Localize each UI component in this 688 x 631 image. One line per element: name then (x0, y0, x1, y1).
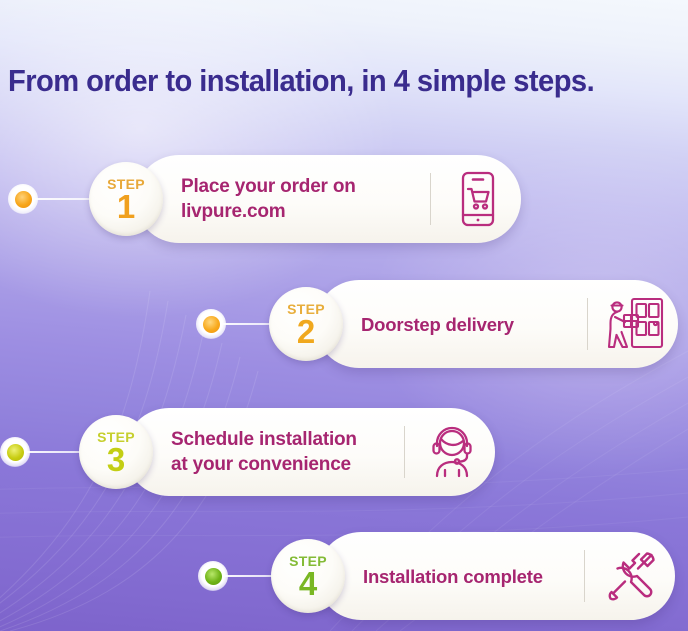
timeline-dot-fill (203, 316, 220, 333)
step-number-4: 4 (299, 567, 317, 600)
step-card-4: Installation complete (317, 532, 675, 620)
timeline-dot-fill (15, 191, 32, 208)
timeline-connector-3 (27, 451, 85, 453)
delivery-door-icon (592, 297, 678, 351)
step-row-4: STEP 4 Installation complete (198, 520, 675, 631)
step-row-2: STEP 2 Doorstep delivery (196, 268, 678, 380)
step-text-2: Doorstep delivery (315, 312, 587, 337)
step-card-2: Doorstep delivery (315, 280, 678, 368)
phone-cart-icon (435, 171, 521, 227)
wrench-screwdriver-icon (589, 551, 675, 601)
step-badge-3: STEP 3 (79, 415, 153, 489)
infographic-poster: From order to installation, in 4 simple … (0, 0, 688, 631)
timeline-dot-4 (198, 561, 228, 591)
timeline-dot-1 (8, 184, 38, 214)
timeline-connector-2 (223, 323, 275, 325)
step-number-1: 1 (117, 190, 135, 223)
step-badge-2: STEP 2 (269, 287, 343, 361)
step-badge-4: STEP 4 (271, 539, 345, 613)
timeline-dot-2 (196, 309, 226, 339)
timeline-connector-1 (35, 198, 95, 200)
card-divider-4 (584, 550, 585, 602)
step-card-3: Schedule installation at your convenienc… (125, 408, 495, 496)
step-row-1: STEP 1 Place your order on livpure.com (8, 143, 521, 255)
card-divider-1 (430, 173, 431, 225)
page-title: From order to installation, in 4 simple … (8, 62, 640, 100)
step-badge-1: STEP 1 (89, 162, 163, 236)
timeline-dot-3 (0, 437, 30, 467)
timeline-connector-4 (225, 575, 277, 577)
step-number-2: 2 (297, 315, 315, 348)
support-headset-icon (409, 426, 495, 478)
step-row-3: STEP 3 Schedule installation at your con… (0, 396, 495, 508)
step-text-4: Installation complete (317, 564, 584, 589)
step-text-3: Schedule installation at your convenienc… (125, 427, 404, 477)
timeline-dot-fill (7, 444, 24, 461)
step-text-1: Place your order on livpure.com (135, 174, 430, 224)
card-divider-2 (587, 298, 588, 350)
step-card-1: Place your order on livpure.com (135, 155, 521, 243)
timeline-dot-fill (205, 568, 222, 585)
card-divider-3 (404, 426, 405, 478)
step-number-3: 3 (107, 443, 125, 476)
